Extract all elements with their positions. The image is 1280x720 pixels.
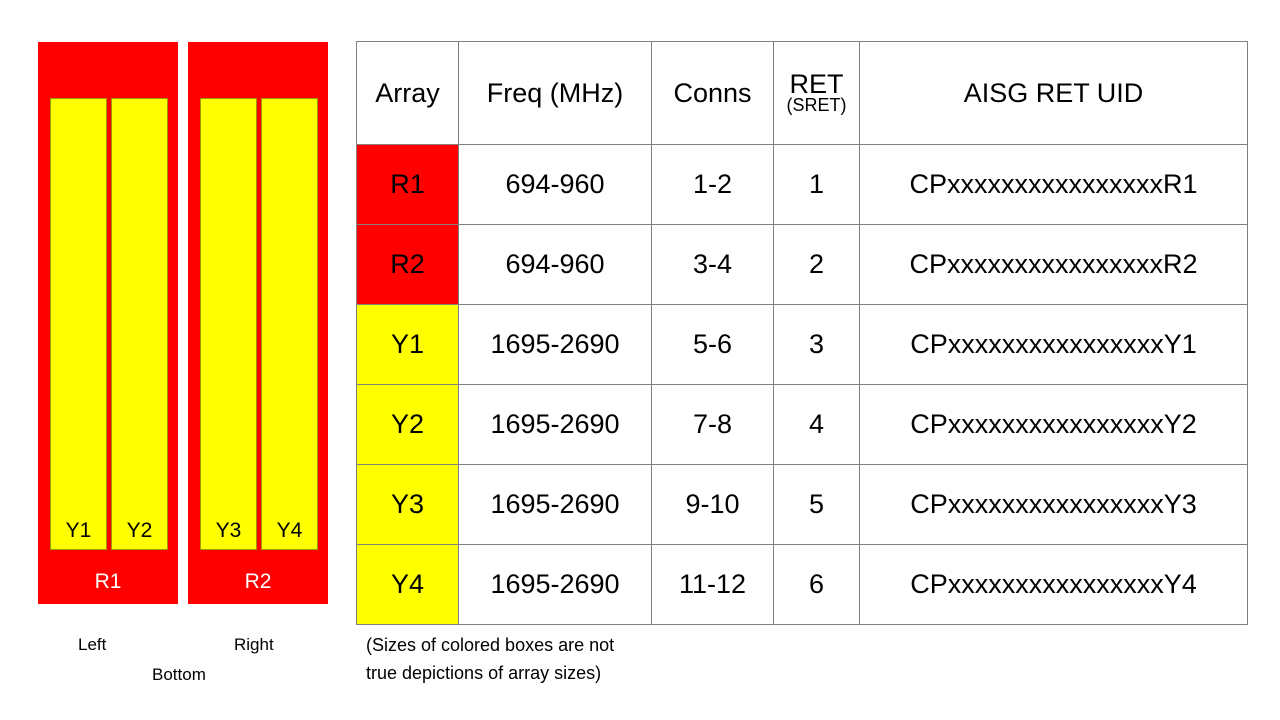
- antenna-panel-r2-label: R2: [188, 571, 328, 592]
- antenna-array-y2-label: Y2: [112, 520, 167, 541]
- cell-conns: 9-10: [652, 465, 774, 545]
- table-row: Y2 1695-2690 7-8 4 CPxxxxxxxxxxxxxxxxY2: [357, 385, 1248, 465]
- column-header-ret: RET (SRET): [774, 42, 860, 145]
- table-row: R1 694-960 1-2 1 CPxxxxxxxxxxxxxxxxR1: [357, 145, 1248, 225]
- table-row: R2 694-960 3-4 2 CPxxxxxxxxxxxxxxxxR2: [357, 225, 1248, 305]
- cell-array: R1: [357, 145, 459, 225]
- antenna-array-y2: Y2: [111, 98, 168, 550]
- cell-conns: 7-8: [652, 385, 774, 465]
- table-row: Y4 1695-2690 11-12 6 CPxxxxxxxxxxxxxxxxY…: [357, 545, 1248, 625]
- orientation-label-right: Right: [234, 636, 274, 653]
- cell-ret: 5: [774, 465, 860, 545]
- table-row: Y1 1695-2690 5-6 3 CPxxxxxxxxxxxxxxxxY1: [357, 305, 1248, 385]
- cell-conns: 5-6: [652, 305, 774, 385]
- cell-ret: 2: [774, 225, 860, 305]
- antenna-array-y3-label: Y3: [201, 520, 256, 541]
- cell-ret: 4: [774, 385, 860, 465]
- orientation-label-bottom: Bottom: [152, 666, 206, 683]
- cell-freq: 1695-2690: [459, 465, 652, 545]
- cell-array: R2: [357, 225, 459, 305]
- table-footnote-line1: (Sizes of colored boxes are not: [366, 632, 796, 660]
- cell-uid: CPxxxxxxxxxxxxxxxxR1: [860, 145, 1248, 225]
- table-footnote: (Sizes of colored boxes are not true dep…: [366, 632, 796, 688]
- antenna-array-y3: Y3: [200, 98, 257, 550]
- antenna-array-y1-label: Y1: [51, 520, 106, 541]
- cell-freq: 694-960: [459, 225, 652, 305]
- antenna-panel-r1-label: R1: [38, 571, 178, 592]
- cell-uid: CPxxxxxxxxxxxxxxxxY4: [860, 545, 1248, 625]
- cell-freq: 1695-2690: [459, 305, 652, 385]
- cell-array: Y1: [357, 305, 459, 385]
- cell-uid: CPxxxxxxxxxxxxxxxxY1: [860, 305, 1248, 385]
- antenna-array-y1: Y1: [50, 98, 107, 550]
- cell-ret: 1: [774, 145, 860, 225]
- antenna-array-y4-label: Y4: [262, 520, 317, 541]
- cell-array: Y3: [357, 465, 459, 545]
- cell-freq: 1695-2690: [459, 545, 652, 625]
- column-header-ret-sub: (SRET): [774, 96, 859, 116]
- cell-ret: 3: [774, 305, 860, 385]
- antenna-spec-table: Array Freq (MHz) Conns RET (SRET) AISG R…: [356, 41, 1248, 625]
- antenna-panel-r2: Y3 Y4 R2: [188, 42, 328, 604]
- cell-conns: 11-12: [652, 545, 774, 625]
- column-header-conns: Conns: [652, 42, 774, 145]
- antenna-array-diagram: Y1 Y2 R1 Y3 Y4 R2: [38, 42, 328, 604]
- table-header-row: Array Freq (MHz) Conns RET (SRET) AISG R…: [357, 42, 1248, 145]
- cell-uid: CPxxxxxxxxxxxxxxxxR2: [860, 225, 1248, 305]
- cell-ret: 6: [774, 545, 860, 625]
- cell-freq: 694-960: [459, 145, 652, 225]
- cell-freq: 1695-2690: [459, 385, 652, 465]
- cell-uid: CPxxxxxxxxxxxxxxxxY3: [860, 465, 1248, 545]
- antenna-array-y4: Y4: [261, 98, 318, 550]
- cell-conns: 1-2: [652, 145, 774, 225]
- cell-uid: CPxxxxxxxxxxxxxxxxY2: [860, 385, 1248, 465]
- column-header-array: Array: [357, 42, 459, 145]
- table-footnote-line2: true depictions of array sizes): [366, 660, 796, 688]
- antenna-panel-r1: Y1 Y2 R1: [38, 42, 178, 604]
- orientation-label-left: Left: [78, 636, 106, 653]
- cell-conns: 3-4: [652, 225, 774, 305]
- column-header-uid: AISG RET UID: [860, 42, 1248, 145]
- column-header-freq: Freq (MHz): [459, 42, 652, 145]
- cell-array: Y4: [357, 545, 459, 625]
- cell-array: Y2: [357, 385, 459, 465]
- table-row: Y3 1695-2690 9-10 5 CPxxxxxxxxxxxxxxxxY3: [357, 465, 1248, 545]
